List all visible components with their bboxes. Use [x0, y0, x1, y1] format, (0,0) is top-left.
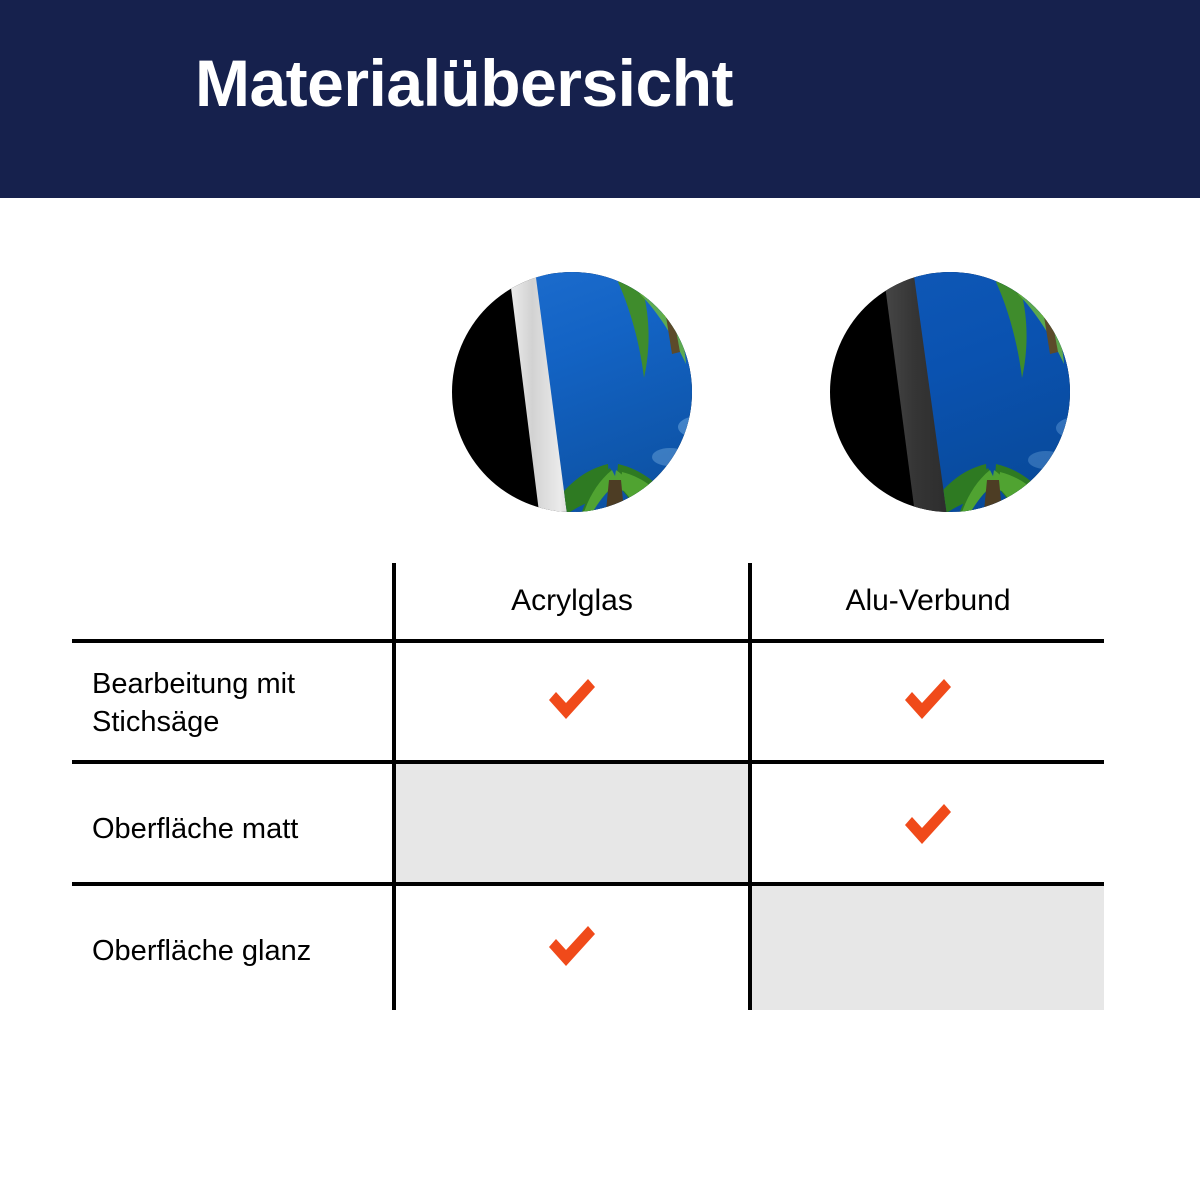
- unavailable-cell-glanz-alu-verbund: [752, 886, 1104, 1010]
- alu-verbund-photo: [830, 272, 1070, 512]
- product-image-alu-verbund[interactable]: [830, 272, 1070, 512]
- check-icon-stichsaege-acrylglas: [545, 676, 599, 722]
- product-image-acrylglas[interactable]: [452, 272, 692, 512]
- material-overview-page: Materialübersicht: [0, 0, 1200, 1200]
- check-icon-glanz-acrylglas: [545, 923, 599, 969]
- table-rule-row-1: [72, 760, 1104, 764]
- table-rule-header: [72, 639, 1104, 643]
- acrylglas-photo: [452, 272, 692, 512]
- row-label-oberflaeche-matt: Oberfläche matt: [92, 810, 388, 848]
- row-label-bearbeitung-stichsaege: Bearbeitung mit Stichsäge: [92, 665, 388, 742]
- page-title: Materialübersicht: [195, 50, 733, 116]
- unavailable-cell-matt-acrylglas: [396, 764, 748, 882]
- material-comparison-table: Acrylglas Alu-Verbund Bearbeitung mit St…: [72, 563, 1104, 1010]
- row-label-oberflaeche-glanz: Oberfläche glanz: [92, 932, 388, 970]
- column-header-alu-verbund: Alu-Verbund: [752, 575, 1104, 627]
- table-rule-row-2: [72, 882, 1104, 886]
- page-header: Materialübersicht: [0, 0, 1200, 198]
- check-icon-matt-alu-verbund: [901, 801, 955, 847]
- check-icon-stichsaege-alu-verbund: [901, 676, 955, 722]
- column-header-acrylglas: Acrylglas: [396, 575, 748, 627]
- product-image-row: [0, 272, 1200, 512]
- table-divider-column-1: [392, 563, 396, 1010]
- table-divider-column-2: [748, 563, 752, 1010]
